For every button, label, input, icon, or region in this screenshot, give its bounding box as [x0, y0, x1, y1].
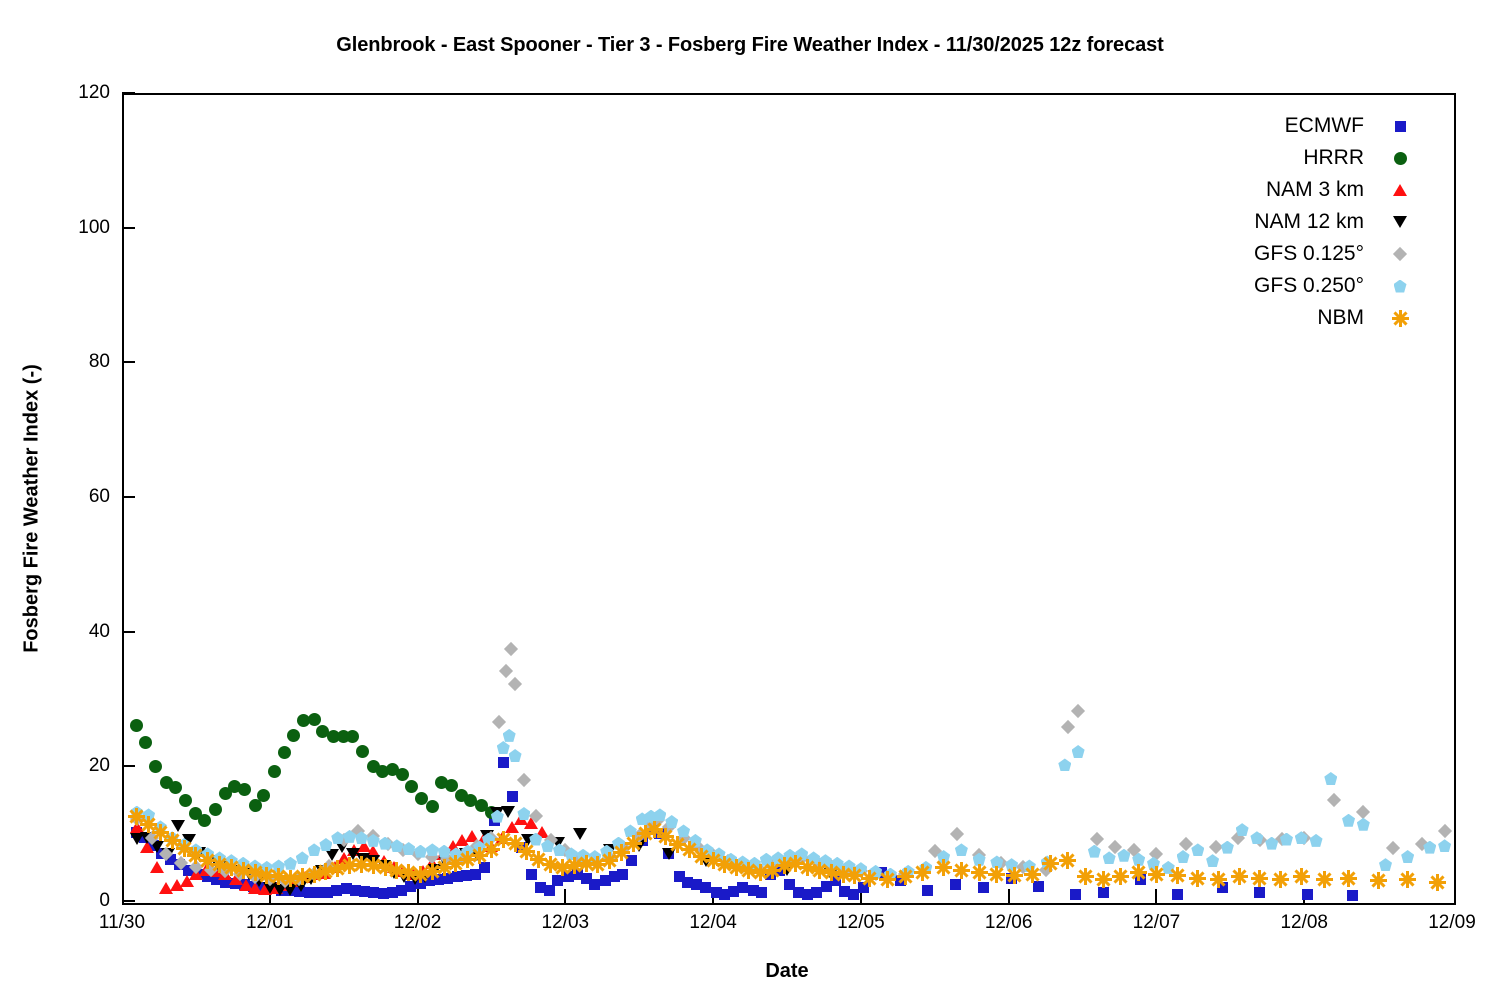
data-point — [1399, 871, 1416, 888]
diamond-marker-icon — [1390, 242, 1410, 266]
data-point — [1250, 831, 1263, 844]
legend-item-nam-12-km[interactable]: NAM 12 km — [1150, 206, 1410, 238]
data-point — [498, 757, 509, 768]
data-point — [198, 814, 211, 827]
data-point — [238, 783, 251, 796]
data-point — [507, 791, 518, 802]
data-point — [526, 869, 537, 880]
data-point — [356, 745, 369, 758]
legend-item-gfs-0-250[interactable]: GFS 0.250° — [1150, 270, 1410, 302]
data-point — [935, 859, 952, 876]
data-point — [414, 845, 427, 858]
data-point — [988, 866, 1005, 883]
data-point — [1347, 890, 1358, 901]
data-point — [1024, 866, 1041, 883]
data-point — [1356, 805, 1370, 819]
data-point — [1088, 845, 1101, 858]
legend-item-nam-3-km[interactable]: NAM 3 km — [1150, 174, 1410, 206]
data-point — [1302, 889, 1313, 900]
data-point — [1324, 772, 1337, 785]
fosberg-fire-weather-index-chart: Glenbrook - East Spooner - Tier 3 - Fosb… — [0, 0, 1500, 1000]
data-point — [1340, 870, 1357, 887]
triangle-up-marker-icon — [1390, 178, 1410, 202]
data-point — [897, 868, 914, 885]
data-point — [1254, 887, 1265, 898]
square-marker-icon — [1390, 114, 1410, 138]
data-point — [497, 741, 510, 754]
data-point — [1429, 874, 1446, 891]
data-point — [1401, 850, 1414, 863]
data-point — [130, 719, 143, 732]
data-point — [1210, 871, 1227, 888]
data-point — [1236, 823, 1249, 836]
data-point — [278, 746, 291, 759]
legend-item-gfs-0-125[interactable]: GFS 0.125° — [1150, 238, 1410, 270]
data-point — [1070, 889, 1081, 900]
data-point — [1357, 818, 1370, 831]
data-point — [257, 789, 270, 802]
data-point — [150, 861, 164, 873]
data-point — [1177, 850, 1190, 863]
data-point — [1006, 867, 1023, 884]
data-point — [879, 871, 896, 888]
data-point — [171, 820, 185, 832]
data-point — [955, 843, 968, 856]
data-point — [1169, 867, 1186, 884]
data-point — [405, 780, 418, 793]
data-point — [268, 765, 281, 778]
data-point — [1272, 871, 1289, 888]
data-point — [756, 887, 767, 898]
data-point — [346, 730, 359, 743]
data-point — [617, 869, 628, 880]
data-point — [1071, 704, 1085, 718]
data-point — [811, 887, 822, 898]
legend-item-ecmwf[interactable]: ECMWF — [1150, 110, 1410, 142]
data-point — [1191, 843, 1204, 856]
data-point — [1310, 834, 1323, 847]
legend-label: GFS 0.250° — [1254, 274, 1390, 298]
data-point — [573, 828, 587, 840]
data-point — [396, 768, 409, 781]
data-point — [1386, 841, 1400, 855]
data-point — [1042, 855, 1059, 872]
data-point — [1130, 864, 1147, 881]
data-point — [552, 875, 563, 886]
data-point — [179, 794, 192, 807]
pentagon-marker-icon — [1390, 274, 1410, 298]
data-point — [426, 800, 439, 813]
data-point — [504, 642, 518, 656]
data-point — [953, 862, 970, 879]
data-point — [1058, 758, 1071, 771]
data-point — [139, 736, 152, 749]
data-point — [209, 803, 222, 816]
data-point — [1072, 745, 1085, 758]
data-point — [1172, 889, 1183, 900]
data-point — [1077, 868, 1094, 885]
data-point — [1098, 887, 1109, 898]
data-point — [149, 760, 162, 773]
data-point — [1112, 868, 1129, 885]
data-point — [922, 885, 933, 896]
data-point — [169, 781, 182, 794]
data-point — [1379, 858, 1392, 871]
data-point — [499, 664, 513, 678]
data-point — [426, 843, 439, 856]
data-point — [1221, 841, 1234, 854]
legend-label: NBM — [1317, 306, 1390, 330]
data-point — [509, 749, 522, 762]
chart-legend: ECMWFHRRRNAM 3 kmNAM 12 kmGFS 0.125°GFS … — [1150, 110, 1410, 334]
data-point — [1179, 837, 1193, 851]
legend-label: NAM 12 km — [1254, 210, 1390, 234]
data-point — [1208, 840, 1222, 854]
data-point — [296, 851, 309, 864]
data-point — [950, 827, 964, 841]
data-point — [1090, 832, 1104, 846]
legend-item-hrrr[interactable]: HRRR — [1150, 142, 1410, 174]
data-point — [1251, 870, 1268, 887]
data-point — [653, 808, 666, 821]
data-point — [1438, 839, 1451, 852]
data-point — [1206, 854, 1219, 867]
data-point — [665, 815, 678, 828]
legend-item-nbm[interactable]: NBM — [1150, 302, 1410, 334]
data-point — [914, 864, 931, 881]
data-point — [331, 885, 342, 896]
data-point — [1438, 824, 1452, 838]
asterisk-marker-icon — [1390, 306, 1410, 330]
data-point — [1231, 868, 1248, 885]
data-point — [978, 882, 989, 893]
data-point — [950, 879, 961, 890]
data-point — [848, 889, 859, 900]
data-point — [517, 773, 531, 787]
data-point — [544, 885, 555, 896]
data-point — [1189, 870, 1206, 887]
data-point — [445, 779, 458, 792]
data-point — [368, 887, 379, 898]
data-point — [1293, 868, 1310, 885]
data-point — [503, 729, 516, 742]
data-point — [861, 870, 878, 887]
data-point — [1370, 872, 1387, 889]
data-point — [1061, 720, 1075, 734]
data-point — [1316, 871, 1333, 888]
data-point — [971, 864, 988, 881]
legend-label: ECMWF — [1285, 114, 1390, 138]
legend-label: NAM 3 km — [1266, 178, 1390, 202]
data-point — [508, 677, 522, 691]
data-point — [319, 838, 332, 851]
data-point — [1059, 852, 1076, 869]
data-point — [1327, 793, 1341, 807]
data-point — [308, 843, 321, 856]
data-point — [737, 882, 748, 893]
data-point — [287, 729, 300, 742]
data-point — [308, 713, 321, 726]
data-point — [1095, 871, 1112, 888]
data-point — [589, 879, 600, 890]
data-point — [1342, 814, 1355, 827]
triangle-down-marker-icon — [1390, 210, 1410, 234]
data-point — [517, 807, 530, 820]
legend-label: HRRR — [1303, 146, 1390, 170]
data-point — [700, 882, 711, 893]
data-point — [492, 715, 506, 729]
circle-marker-icon — [1390, 146, 1410, 170]
data-point — [1148, 866, 1165, 883]
legend-label: GFS 0.125° — [1254, 242, 1390, 266]
